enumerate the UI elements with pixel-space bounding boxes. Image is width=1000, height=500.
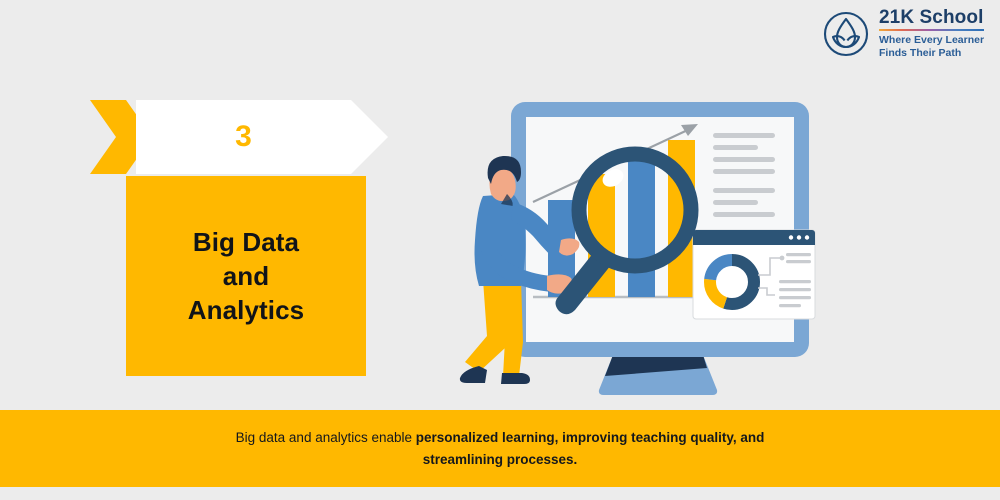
text-line xyxy=(779,288,811,291)
donut-chart-window xyxy=(693,230,815,319)
window-titlebar-fill xyxy=(693,240,815,245)
text-line xyxy=(713,188,775,193)
caption-bar: Big data and analytics enable personaliz… xyxy=(0,410,1000,487)
text-line xyxy=(779,280,811,283)
brand-underline-rule xyxy=(879,29,984,31)
text-line xyxy=(713,212,775,217)
data-analytics-illustration xyxy=(455,90,855,400)
text-line xyxy=(713,145,758,150)
brand-text-block: 21K School Where Every Learner Finds The… xyxy=(879,8,984,60)
brand-logo: 21K School Where Every Learner Finds The… xyxy=(822,8,984,60)
title-block: Big Data and Analytics xyxy=(126,176,366,376)
text-line xyxy=(713,169,775,174)
window-dot-icon xyxy=(805,235,809,239)
lotus-in-circle-icon xyxy=(822,10,870,58)
page-title: Big Data and Analytics xyxy=(188,225,305,328)
window-dot-icon xyxy=(789,235,793,239)
brand-name: 21K School xyxy=(879,8,984,29)
slide-canvas: 21K School Where Every Learner Finds The… xyxy=(0,0,1000,500)
text-line xyxy=(713,157,775,162)
title-line-1: Big Data xyxy=(188,225,305,259)
text-line xyxy=(779,296,811,299)
caption-text: Big data and analytics enable personaliz… xyxy=(220,427,780,470)
chart-bar-3 xyxy=(628,152,655,297)
text-line xyxy=(786,253,811,256)
text-line xyxy=(786,260,811,263)
text-line xyxy=(779,304,801,307)
caption-lead: Big data and analytics enable xyxy=(236,430,416,445)
window-dot-icon xyxy=(797,235,801,239)
person-shoe-front xyxy=(501,373,530,384)
title-line-2: and xyxy=(188,259,305,293)
text-line xyxy=(713,133,775,138)
person-shoe-back xyxy=(460,366,487,383)
brand-tagline-line2: Finds Their Path xyxy=(879,47,984,60)
caption-emphasis: personalized learning, improving teachin… xyxy=(416,430,765,466)
title-line-3: Analytics xyxy=(188,293,305,327)
text-line xyxy=(713,200,758,205)
donut-callout-dot-icon xyxy=(780,256,785,261)
brand-tagline-line1: Where Every Learner xyxy=(879,34,984,47)
step-number: 3 xyxy=(136,100,351,174)
